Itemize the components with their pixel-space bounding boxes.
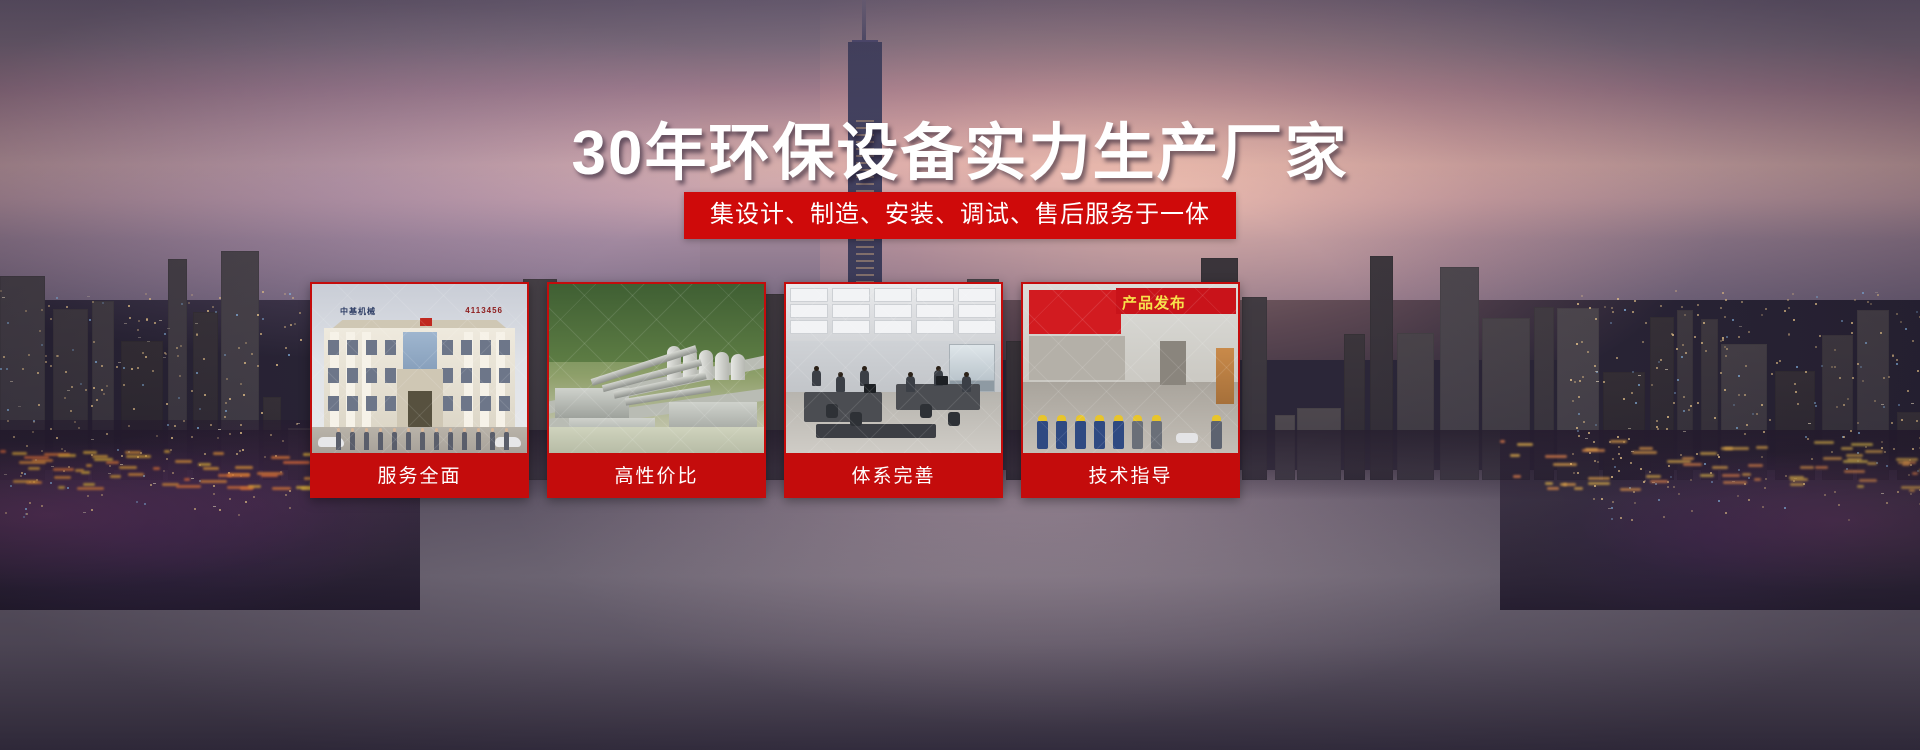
banner-subtitle-wrapper: 集设计、制造、安装、调试、售后服务于一体	[0, 192, 1920, 239]
feature-card-system[interactable]: 体系完善	[784, 282, 1003, 498]
card-caption: 高性价比	[549, 453, 764, 496]
card-thumbnail-factory-workers: 产品发布	[1023, 284, 1238, 453]
hero-banner: 30年环保设备实力生产厂家 集设计、制造、安装、调试、售后服务于一体 中基机械 …	[0, 0, 1920, 750]
banner-subtitle-badge: 集设计、制造、安装、调试、售后服务于一体	[684, 192, 1236, 239]
factory-wall-banner	[1029, 290, 1121, 334]
flag-icon	[420, 318, 432, 326]
card-caption: 体系完善	[786, 453, 1001, 496]
feature-card-list: 中基机械 4113456 服务全面 高性价比	[310, 282, 1560, 494]
building-phone-text: 4113456	[465, 306, 503, 315]
banner-content: 30年环保设备实力生产厂家 集设计、制造、安装、调试、售后服务于一体 中基机械 …	[0, 0, 1920, 750]
banner-headline: 30年环保设备实力生产厂家	[0, 102, 1920, 192]
card-caption: 技术指导	[1023, 453, 1238, 496]
card-thumbnail-plant-aerial	[549, 284, 764, 453]
card-thumbnail-office-interior	[786, 284, 1001, 453]
card-caption: 服务全面	[312, 453, 527, 496]
feature-card-service[interactable]: 中基机械 4113456 服务全面	[310, 282, 529, 498]
building-logo-text: 中基机械	[340, 306, 376, 317]
factory-sign-text: 产品发布	[1122, 292, 1186, 313]
card-thumbnail-office-building: 中基机械 4113456	[312, 284, 527, 453]
feature-card-value[interactable]: 高性价比	[547, 282, 766, 498]
feature-card-guidance[interactable]: 产品发布 技术指导	[1021, 282, 1240, 498]
factory-red-sign: 产品发布	[1116, 288, 1236, 314]
